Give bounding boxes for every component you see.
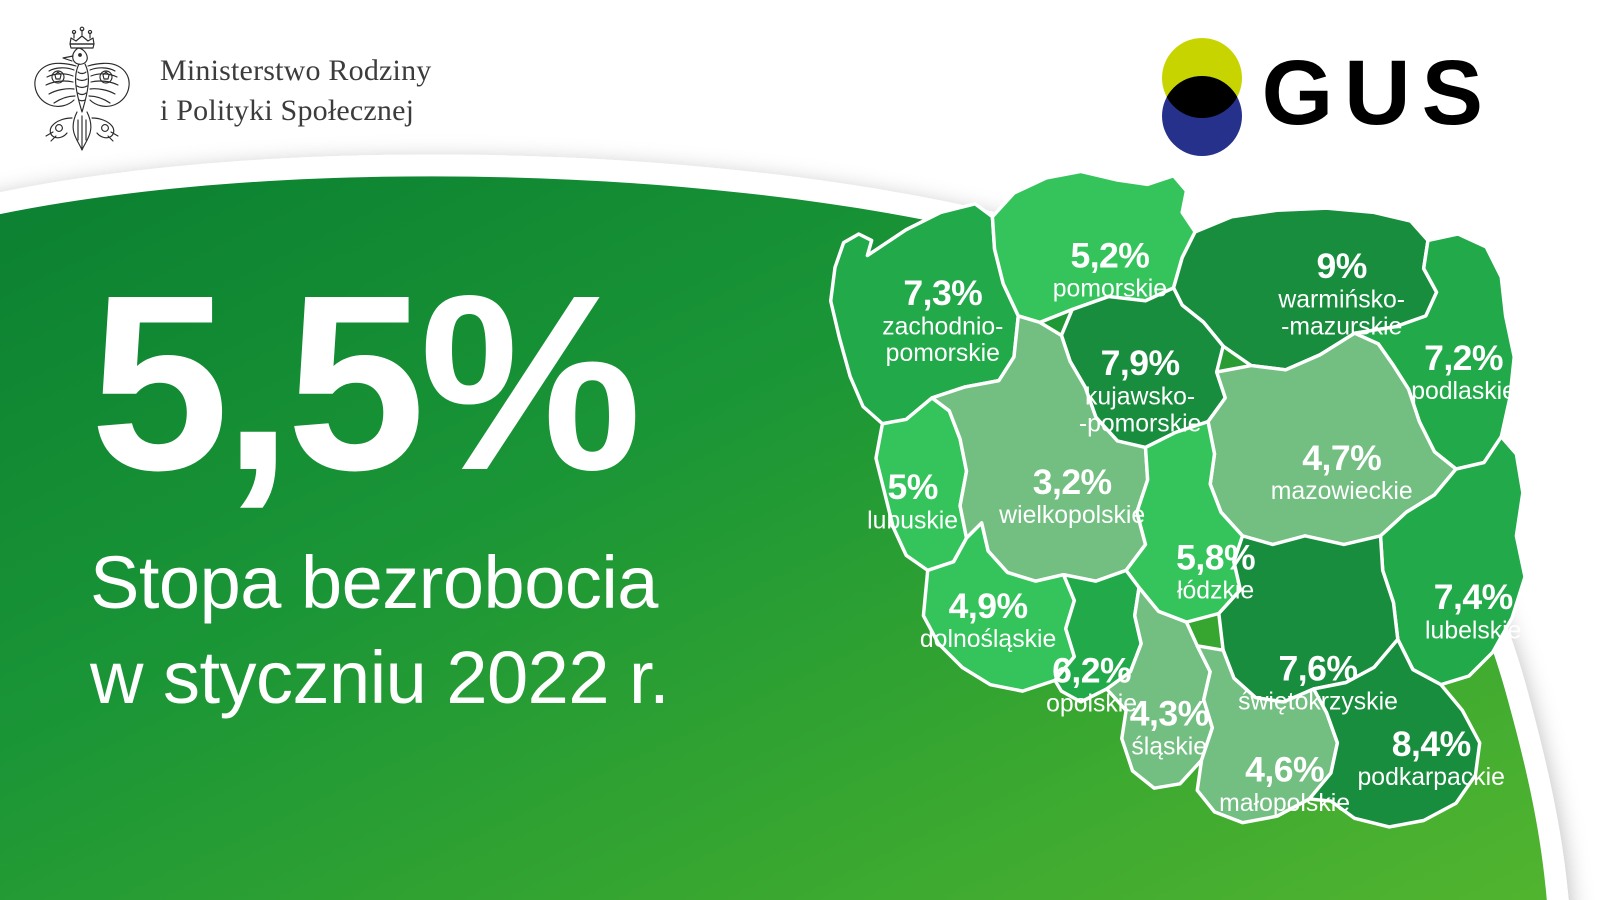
- region-value: 8,4%: [1392, 724, 1471, 764]
- region-label-podlaskie: 7,2%podlaskie: [1411, 338, 1516, 405]
- gus-circles-icon: [1146, 38, 1258, 156]
- region-label--dzkie: 5,8%łódzkie: [1176, 537, 1255, 604]
- region-value: 4,7%: [1302, 438, 1381, 478]
- header-bar: Ministerstwo Rodziny i Polityki Społeczn…: [0, 0, 1600, 190]
- region-name: świętokrzyskie: [1238, 688, 1398, 715]
- region-value: 5,2%: [1070, 235, 1149, 275]
- region-value: 7,2%: [1424, 338, 1503, 378]
- region-value: 5,8%: [1176, 537, 1255, 577]
- infographic-canvas: Ministerstwo Rodziny i Polityki Społeczn…: [0, 0, 1600, 900]
- region-value: 4,9%: [949, 586, 1028, 626]
- headline-statistic: 5,5% Stopa bezrobocia w styczniu 2022 r.: [90, 268, 669, 725]
- region-value: 7,9%: [1101, 343, 1180, 383]
- region-name: opolskie: [1046, 691, 1137, 718]
- unemployment-rate-value: 5,5%: [90, 268, 669, 498]
- region-name-cont: pomorskie: [886, 340, 1000, 367]
- region-name: podkarpackie: [1358, 764, 1505, 791]
- caption-line2: w styczniu 2022 r.: [90, 631, 669, 726]
- map-svg: 7,3%zachodnio-pomorskie5,2%pomorskie9%wa…: [800, 165, 1560, 855]
- region-name: wielkopolskie: [998, 502, 1145, 529]
- region-name-cont: -mazurskie: [1281, 313, 1402, 340]
- statistic-caption: Stopa bezrobocia w styczniu 2022 r.: [90, 536, 669, 725]
- region-name: śląskie: [1131, 734, 1207, 761]
- region-name: lubelskie: [1425, 617, 1521, 644]
- ministry-branding: Ministerstwo Rodziny i Polityki Społeczn…: [22, 20, 432, 155]
- region-value: 6,2%: [1052, 651, 1131, 691]
- gus-branding: GUS: [1146, 38, 1494, 156]
- region-name: mazowieckie: [1271, 478, 1413, 505]
- region-name: warmińsko-: [1277, 286, 1405, 313]
- ministry-name-line1: Ministerstwo Rodziny: [160, 51, 432, 91]
- poland-choropleth-map: 7,3%zachodnio-pomorskie5,2%pomorskie9%wa…: [800, 165, 1560, 855]
- region-name: zachodnio-: [882, 313, 1003, 340]
- caption-line1: Stopa bezrobocia: [90, 536, 669, 631]
- region-value: 3,2%: [1033, 462, 1112, 502]
- region-name-cont: -pomorskie: [1079, 410, 1202, 437]
- region-label--l-skie: 4,3%śląskie: [1130, 694, 1209, 761]
- region-label-opolskie: 6,2%opolskie: [1046, 651, 1137, 718]
- region-name: podlaskie: [1411, 378, 1516, 405]
- region-name: lubuskie: [867, 507, 958, 534]
- region-value: 4,3%: [1130, 694, 1209, 734]
- region-value: 7,3%: [903, 273, 982, 313]
- region-name: kujawsko-: [1085, 383, 1195, 410]
- region-value: 9%: [1317, 246, 1367, 286]
- region-value: 7,4%: [1434, 577, 1513, 617]
- region-name: pomorskie: [1053, 276, 1167, 303]
- region-value: 5%: [887, 467, 937, 507]
- region-name: małopolskie: [1219, 790, 1350, 817]
- gus-wordmark: GUS: [1262, 50, 1494, 143]
- region-value: 4,6%: [1245, 750, 1324, 790]
- region-name: dolnośląskie: [920, 626, 1056, 653]
- ministry-name-line2: i Polityki Społecznej: [160, 91, 432, 131]
- region-value: 7,6%: [1279, 648, 1358, 688]
- region-label-lubelskie: 7,4%lubelskie: [1425, 577, 1521, 644]
- ministry-name: Ministerstwo Rodziny i Polityki Społeczn…: [160, 45, 432, 131]
- region-name: łódzkie: [1177, 577, 1254, 604]
- polish-eagle-icon: [22, 20, 142, 155]
